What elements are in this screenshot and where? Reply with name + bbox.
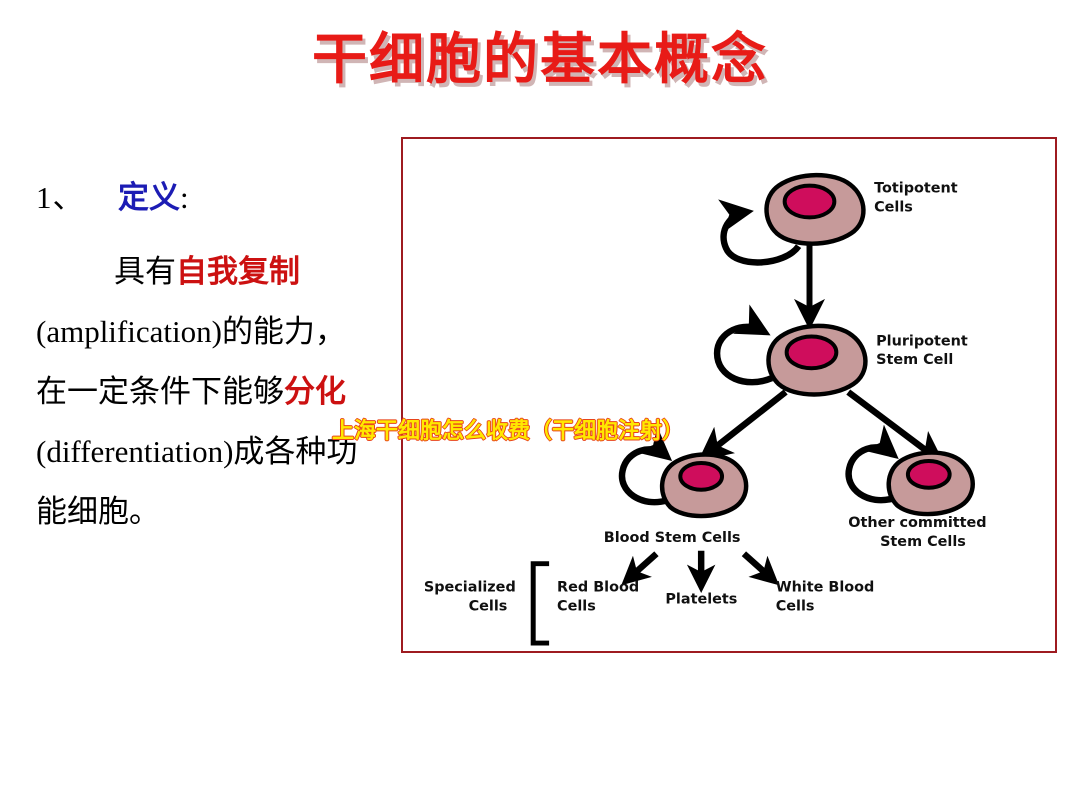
totipotent-cell-graphic: [767, 175, 864, 244]
label-totipotent-line2: Cells: [874, 199, 913, 215]
diagram-canvas: Totipotent Cells Pluripotent Stem Cell B…: [403, 139, 1055, 651]
label-red-blood-line1: Red Blood: [557, 579, 639, 595]
label-other-committed-line1: Other committed: [848, 515, 986, 531]
definition-line5-plain: 能细胞。: [36, 494, 160, 529]
definition-line4-latin: (differentiation): [36, 434, 233, 469]
definition-line-5: 能细胞。: [36, 482, 406, 542]
definition-line1-plain: 具有: [114, 254, 176, 289]
cell-nucleus: [680, 463, 722, 490]
label-blood-stem-cells: Blood Stem Cells: [604, 530, 741, 546]
definition-line2-latin: (amplification): [36, 314, 222, 349]
definition-line3-plain: 在一定条件下能够: [36, 374, 284, 409]
blood-stem-cell-graphic: [662, 455, 746, 517]
stem-cell-hierarchy-diagram: Totipotent Cells Pluripotent Stem Cell B…: [401, 137, 1057, 653]
specialized-cells-bracket: [533, 564, 549, 643]
definition-line-1: 具有自我复制: [36, 242, 406, 302]
cell-nucleus: [785, 186, 835, 218]
definition-number: 1、: [36, 180, 85, 215]
label-specialized-line1: Specialized: [424, 579, 516, 595]
label-totipotent-line1: Totipotent: [874, 181, 958, 197]
definition-colon: :: [180, 180, 189, 215]
self-renewal-arrow-blood-stem: [622, 449, 667, 502]
pluripotent-cell-graphic: [768, 326, 865, 395]
page-title: 干细胞的基本概念: [0, 26, 1080, 92]
definition-spacer: [36, 228, 406, 242]
cell-nucleus: [787, 336, 837, 368]
self-renewal-arrow-other-committed: [849, 447, 894, 500]
definition-text-block: 1、 定义: 具有自我复制 (amplification)的能力， 在一定条件下…: [36, 168, 406, 542]
label-other-committed-line2: Stem Cells: [880, 534, 966, 550]
label-white-blood-line1: White Blood: [776, 579, 875, 595]
watermark-text: 上海干细胞怎么收费（干细胞注射）: [332, 419, 684, 445]
definition-heading: 定义: [118, 180, 180, 215]
definition-line-3: 在一定条件下能够分化: [36, 362, 406, 422]
arrow-pluripotent-to-blood-stem: [706, 392, 786, 455]
arrow-to-white-blood-cells: [744, 554, 773, 580]
arrow-to-red-blood-cells: [628, 554, 657, 580]
other-committed-stem-cell-graphic: [889, 453, 973, 515]
label-pluripotent-line2: Stem Cell: [876, 352, 953, 368]
cell-nucleus: [908, 461, 950, 488]
label-platelets: Platelets: [665, 591, 737, 607]
label-specialized-line2: Cells: [469, 598, 508, 614]
label-red-blood-line2: Cells: [557, 598, 596, 614]
definition-line-2: (amplification)的能力，: [36, 302, 406, 362]
definition-line1-highlight: 自我复制: [176, 254, 300, 289]
definition-heading-line: 1、 定义:: [36, 168, 406, 228]
label-white-blood-line2: Cells: [776, 598, 815, 614]
definition-line3-highlight: 分化: [284, 374, 346, 409]
label-pluripotent-line1: Pluripotent: [876, 333, 968, 349]
definition-line2-plain: 的能力，: [222, 314, 346, 349]
self-renewal-arrow-pluripotent: [717, 327, 772, 382]
